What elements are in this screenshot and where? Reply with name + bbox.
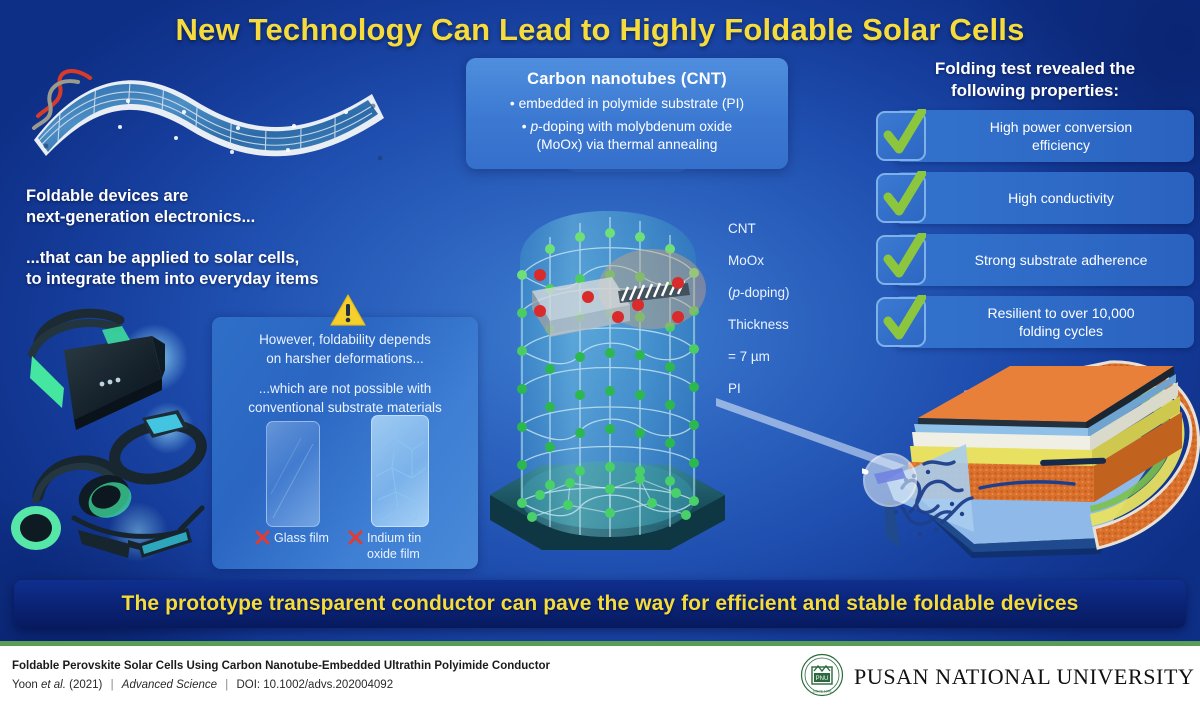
glass-film-swatch: [266, 421, 320, 527]
checklist-item[interactable]: High conductivity: [876, 172, 1194, 224]
cnt-bullet-3: (MoOx) via thermal annealing: [476, 136, 778, 155]
svg-text:SINCE 1946: SINCE 1946: [813, 689, 832, 693]
cnt-bullet-2: • p-doping with molybdenum oxide: [476, 118, 778, 137]
check-mark-icon[interactable]: [876, 111, 926, 161]
properties-checklist: High power conversion efficiency High co…: [876, 110, 1194, 358]
page-title: New Technology Can Lead to Highly Foldab…: [0, 12, 1200, 48]
checklist-heading: Folding test revealed the following prop…: [876, 58, 1194, 102]
warn-line3: ...which are not possible with: [218, 380, 472, 399]
university-logo: PNU SINCE 1946 PUSAN NATIONAL UNIVERSITY: [800, 654, 1195, 700]
wearable-devices-illustration: [2, 300, 217, 565]
university-name: PUSAN NATIONAL UNIVERSITY: [854, 664, 1195, 690]
check-mark-icon[interactable]: [876, 173, 926, 223]
magnifier-icon: [862, 454, 916, 506]
footer: Foldable Perovskite Solar Cells Using Ca…: [0, 646, 1200, 708]
pusan-national-university-seal-icon: PNU SINCE 1946: [800, 653, 844, 702]
svg-text:PNU: PNU: [816, 676, 829, 682]
ito-film-label-text-line2: oxide film: [367, 546, 448, 562]
ito-film-label: Indium tin oxide film: [348, 530, 448, 562]
checklist-heading-line1: Folding test revealed the: [876, 58, 1194, 80]
intro-para2-line1: ...that can be applied to solar cells,: [26, 248, 346, 269]
intro-text-block: Foldable devices are next-generation ele…: [26, 186, 346, 290]
warn-line2: on harsher deformations...: [218, 350, 472, 369]
conclusion-banner: The prototype transparent conductor can …: [14, 580, 1186, 628]
checklist-item[interactable]: High power conversion efficiency: [876, 110, 1194, 162]
cnt-bullet-1: • embedded in polymide substrate (PI): [476, 95, 778, 114]
folded-solar-cell-illustration: [862, 352, 1200, 567]
checklist-item-label: Resilient to over 10,000 folding cycles: [936, 304, 1194, 340]
checklist-item[interactable]: Resilient to over 10,000 folding cycles: [876, 296, 1194, 348]
warn-line4: conventional substrate materials: [218, 399, 472, 418]
intro-para2-line2: to integrate them into everyday items: [26, 269, 346, 290]
checklist-heading-line2: following properties:: [876, 80, 1194, 102]
checklist-item-label: Strong substrate adherence: [936, 251, 1194, 269]
ito-film-swatch: [371, 415, 429, 527]
cnt-heading: Carbon nanotubes (CNT): [476, 70, 778, 89]
checklist-item-label: High conductivity: [936, 189, 1194, 207]
warn-line1: However, foldability depends: [218, 331, 472, 350]
substrate-limitation-text: However, foldability depends on harsher …: [218, 331, 472, 417]
red-x-icon: [255, 530, 270, 545]
checklist-item-label: High power conversion efficiency: [936, 118, 1194, 154]
check-mark-icon[interactable]: [876, 235, 926, 285]
label-cnt: CNT: [728, 220, 848, 238]
intro-para1-line2: next-generation electronics...: [26, 207, 346, 228]
smart-band-icon: [110, 402, 207, 487]
ito-film-label-text-line1: Indium tin: [367, 531, 421, 545]
conclusion-banner-text: The prototype transparent conductor can …: [122, 592, 1079, 616]
infographic-poster: New Technology Can Lead to Highly Foldab…: [0, 0, 1200, 708]
label-pi: PI: [728, 380, 848, 398]
poster-canvas: New Technology Can Lead to Highly Foldab…: [0, 0, 1200, 641]
check-mark-icon[interactable]: [876, 297, 926, 347]
checklist-item[interactable]: Strong substrate adherence: [876, 234, 1194, 286]
intro-para1-line1: Foldable devices are: [26, 186, 346, 207]
label-thickness: Thickness = 7 µm: [728, 316, 848, 366]
flexible-solar-panel-illustration: [16, 52, 406, 202]
cnt-callout-card: Carbon nanotubes (CNT) • embedded in pol…: [466, 58, 788, 169]
carbon-nanotube-illustration: [470, 165, 760, 570]
red-x-icon: [348, 530, 363, 545]
footer-divider: [0, 641, 1200, 646]
glass-film-label-text: Glass film: [274, 531, 329, 545]
nanotube-label-list: CNT MoOx (p-doping) Thickness = 7 µm PI: [728, 220, 848, 412]
paper-citation: Yoon et al. (2021) | Advanced Science | …: [12, 679, 393, 691]
paper-title: Foldable Perovskite Solar Cells Using Ca…: [12, 660, 550, 672]
warning-triangle-icon: [330, 294, 366, 327]
label-moox: MoOx (p-doping): [728, 252, 848, 302]
